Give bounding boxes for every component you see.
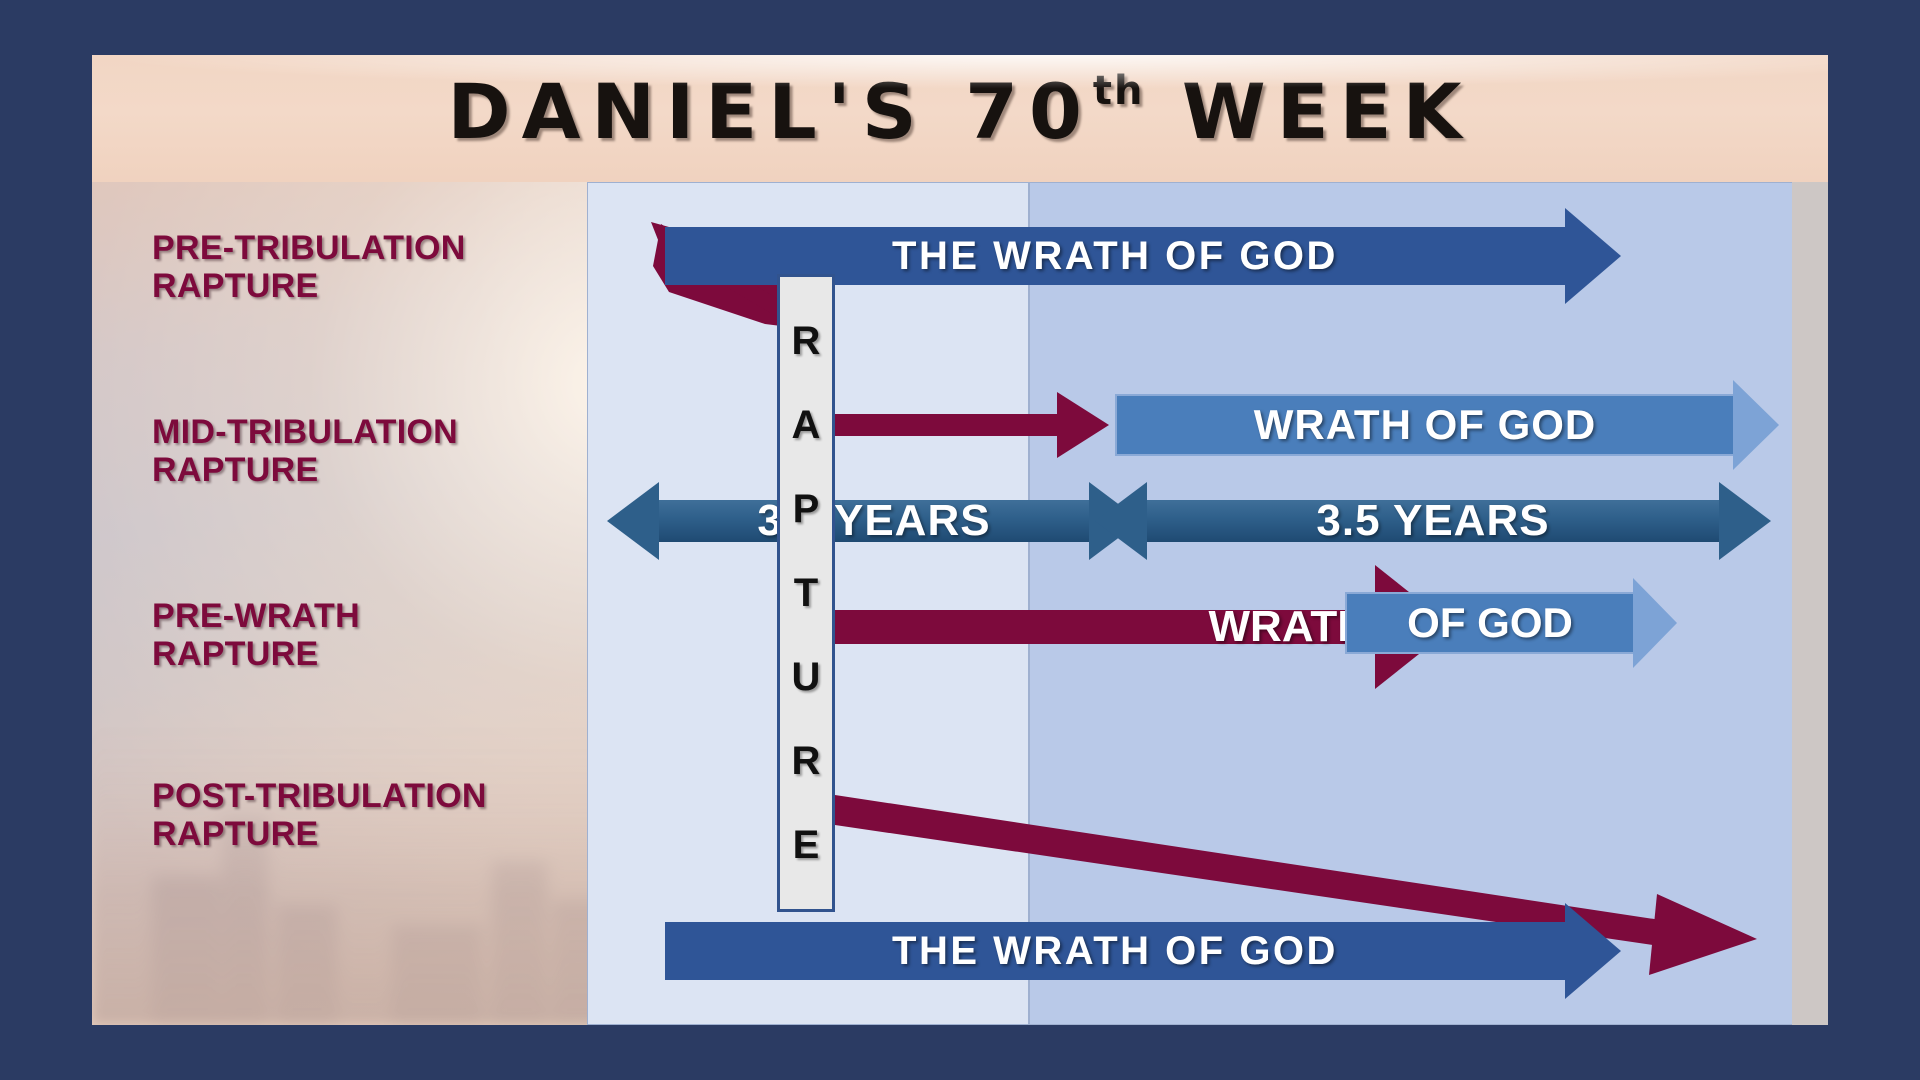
label-line-2: RAPTURE [152,815,652,853]
duration-left-arrowhead [1095,482,1147,560]
duration-second-half: 3.5 YEARS [1147,482,1719,560]
timeline-panel: THE WRATH OF GOD WRATH OF GOD 3.5 YEARS … [587,182,1828,1025]
band-bottom-arrowhead [1565,903,1621,999]
label-line-2: RAPTURE [152,267,652,305]
mid-tribulation-arrowhead [1057,392,1109,458]
rapture-letter: U [792,657,821,697]
rapture-letter: P [793,489,820,529]
rapture-vertical-box: R A P T U R E [777,274,835,912]
bar-of-god-pre-wrath: OF GOD [1345,592,1635,654]
band-the-wrath-of-god-bottom: THE WRATH OF GOD [665,922,1565,980]
diagram-frame: DANIEL'S 70th WEEK PRE-TRIBULATION RAPTU… [92,55,1828,1025]
label-line-1: MID-TRIBULATION [152,413,652,451]
label-line-2: RAPTURE [152,635,652,673]
duration-second-half-label: 3.5 YEARS [1147,482,1719,560]
label-post-tribulation: POST-TRIBULATION RAPTURE [152,777,652,854]
rapture-letter: R [792,321,821,361]
label-line-1: PRE-WRATH [152,597,652,635]
label-line-1: PRE-TRIBULATION [152,229,652,267]
label-pre-wrath: PRE-WRATH RAPTURE [152,597,652,674]
duration-left-arrowhead [607,482,659,560]
duration-right-arrowhead [1719,482,1771,560]
page-title: DANIEL'S 70th WEEK [92,67,1828,156]
pre-wrath-arrow: WRATH [835,610,1375,644]
title-superscript: th [1093,68,1145,114]
panel-right-rail [1792,182,1828,1025]
rapture-letter: E [793,825,820,865]
bar-mid-label: WRATH OF GOD [1254,401,1597,449]
band-bottom-label: THE WRATH OF GOD [892,929,1338,974]
duration-first-half-label: 3.5 YEARS [659,482,1089,560]
mid-tribulation-arrow [835,414,1057,436]
duration-first-half: 3.5 YEARS [659,482,1089,560]
band-top-label: THE WRATH OF GOD [892,234,1338,279]
rapture-letter: R [792,741,821,781]
bar-pre-wrath-label: OF GOD [1407,599,1573,647]
title-main: DANIEL'S 70 [448,67,1093,156]
label-pre-tribulation: PRE-TRIBULATION RAPTURE [152,229,652,306]
bar-pre-wrath-arrowhead [1633,578,1677,668]
rapture-letter: T [794,573,818,613]
bar-mid-arrowhead [1733,380,1779,470]
title-tail: WEEK [1144,67,1472,156]
bar-wrath-of-god-mid: WRATH OF GOD [1115,394,1735,456]
rapture-letter: A [792,405,821,445]
label-mid-tribulation: MID-TRIBULATION RAPTURE [152,413,652,490]
title-banner: DANIEL'S 70th WEEK [92,55,1828,182]
band-top-arrowhead [1565,208,1621,304]
label-line-2: RAPTURE [152,451,652,489]
label-line-1: POST-TRIBULATION [152,777,652,815]
